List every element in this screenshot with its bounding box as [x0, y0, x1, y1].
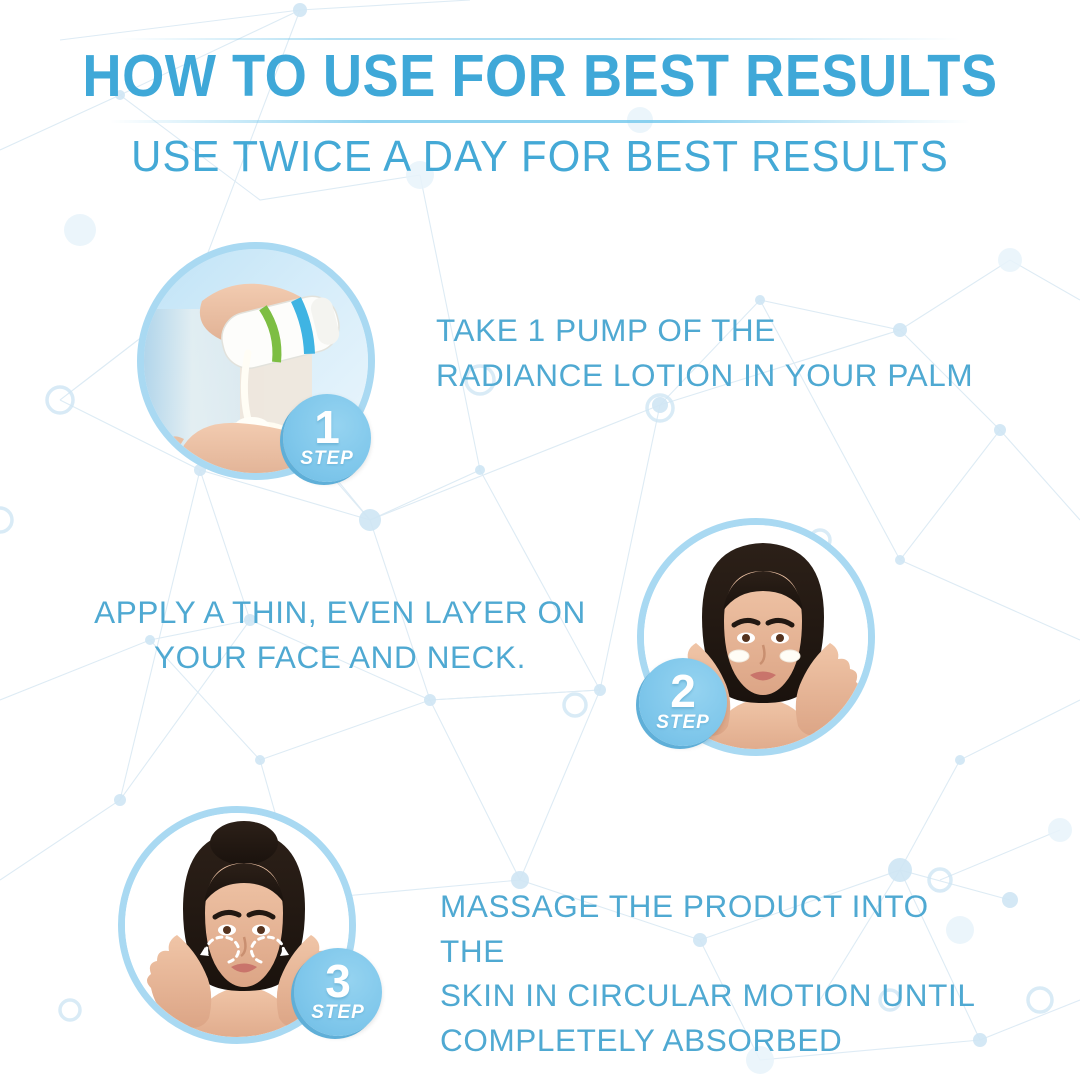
step-1-text: TAKE 1 PUMP OF THE RADIANCE LOTION IN YO… [436, 308, 996, 397]
step-3-image-circle: 3 STEP [118, 806, 356, 1044]
step-3-text: MASSAGE THE PRODUCT INTO THE SKIN IN CIR… [440, 884, 1000, 1063]
step-1-badge-label: STEP [300, 449, 354, 468]
step-3-badge: 3 STEP [294, 948, 382, 1036]
divider-middle [110, 120, 970, 123]
step-2-number: 2 [670, 670, 696, 712]
step-1-number: 1 [314, 406, 340, 448]
step-2-badge-label: STEP [656, 713, 710, 732]
page-title: HOW TO USE FOR BEST RESULTS [43, 46, 1037, 108]
step-2-image-circle: 2 STEP [637, 518, 875, 756]
step-1-image-circle: 1 STEP [137, 242, 375, 480]
step-3-badge-label: STEP [311, 1003, 365, 1022]
step-2-badge: 2 STEP [639, 658, 727, 746]
step-2-text: APPLY A THIN, EVEN LAYER ON YOUR FACE AN… [80, 590, 600, 679]
page-subtitle: USE TWICE A DAY FOR BEST RESULTS [27, 132, 1053, 182]
divider-top [120, 38, 960, 40]
step-3-number: 3 [325, 960, 351, 1002]
step-1-badge: 1 STEP [283, 394, 371, 482]
infographic-canvas: HOW TO USE FOR BEST RESULTS USE TWICE A … [0, 0, 1080, 1080]
